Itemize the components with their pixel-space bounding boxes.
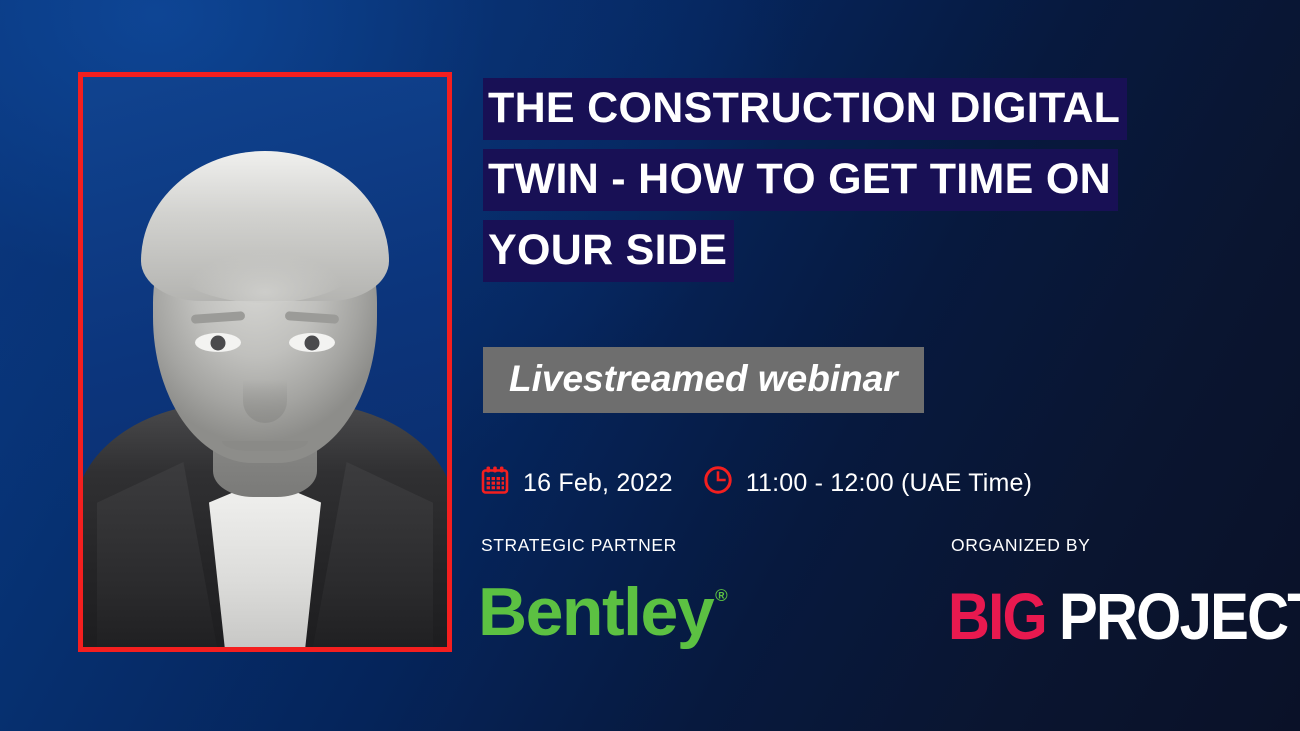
organized-by-label: ORGANIZED BY: [951, 535, 1090, 556]
webinar-promo-poster: THE CONSTRUCTION DIGITAL TWIN - HOW TO G…: [0, 0, 1300, 731]
page-title: THE CONSTRUCTION DIGITAL TWIN - HOW TO G…: [483, 78, 1243, 291]
event-date-text: 16 Feb, 2022: [523, 469, 673, 498]
speaker-eye-left: [195, 333, 241, 352]
speaker-shirt: [209, 479, 321, 647]
bigproject-logo: BIG PROJECT MIDDLE EAST: [948, 583, 1300, 653]
speaker-photo: [83, 77, 447, 647]
registered-trademark-icon: ®: [715, 586, 728, 606]
title-line-2: TWIN - HOW TO GET TIME ON: [483, 149, 1118, 211]
event-date: 16 Feb, 2022: [480, 465, 673, 502]
event-time: 11:00 - 12:00 (UAE Time): [703, 465, 1032, 502]
bigproject-logo-project: PROJECT: [1059, 583, 1300, 653]
title-line-1: THE CONSTRUCTION DIGITAL: [483, 78, 1127, 140]
strategic-partner-label: STRATEGIC PARTNER: [481, 535, 677, 556]
bigproject-logo-big: BIG: [948, 583, 1046, 653]
calendar-icon: [480, 465, 510, 502]
bentley-logo: Bentley ®: [478, 578, 728, 646]
speaker-eye-right: [289, 333, 335, 352]
speaker-nose: [243, 361, 287, 423]
bentley-logo-text: Bentley: [478, 578, 713, 646]
clock-icon: [703, 465, 733, 502]
subtitle-badge: Livestreamed webinar: [483, 347, 924, 413]
title-line-3: YOUR SIDE: [483, 220, 734, 282]
event-time-text: 11:00 - 12:00 (UAE Time): [746, 469, 1032, 498]
event-meta: 16 Feb, 2022 11:00 - 12:00 (UAE Time): [480, 463, 1032, 503]
speaker-photo-frame: [78, 72, 452, 652]
